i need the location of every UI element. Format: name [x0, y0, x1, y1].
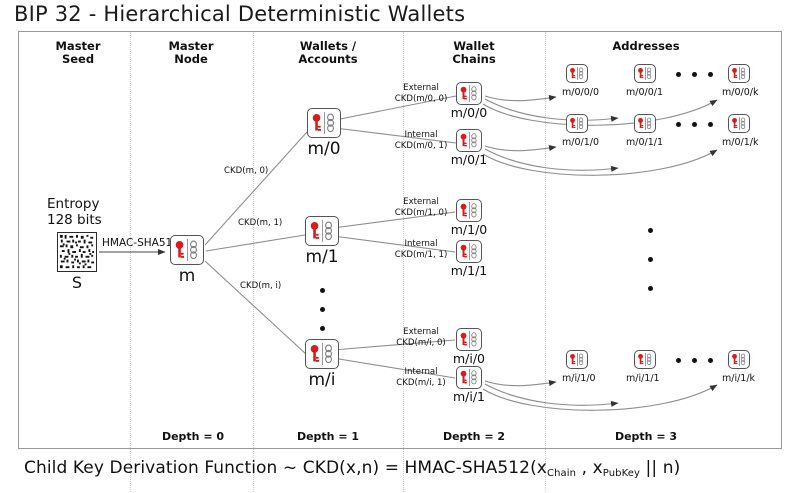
node-label: m/i/0: [453, 351, 485, 366]
depth-label-2: Depth = 2: [426, 430, 522, 443]
column-divider-2: [253, 32, 254, 492]
address-label-m-0-1-k: m/0/1/k: [722, 137, 758, 148]
chain-links-icon: [579, 118, 583, 129]
entropy-line2: 128 bits: [47, 212, 102, 228]
column-divider-4: [545, 32, 546, 492]
key-icon: [567, 351, 587, 368]
chain-links-icon: [326, 345, 332, 363]
edge-formula: CKD(m/0, 0): [378, 94, 464, 105]
key-icon: [308, 109, 340, 137]
edge-label-external-m-0-0: External CKD(m/0, 0): [378, 83, 464, 104]
chain-links-icon: [647, 354, 651, 365]
key-icon: [635, 351, 655, 368]
entropy-noise-icon: [57, 232, 97, 272]
node-address-m-i-1-k[interactable]: [728, 350, 750, 369]
chain-links-icon: [472, 204, 476, 217]
column-header-wallet-chains: Wallet Chains: [426, 40, 522, 66]
chain-links-icon: [647, 118, 651, 129]
key-icon: [729, 65, 749, 82]
addresses-row1-ellipsis: [676, 72, 713, 77]
address-label-m-i-1-k: m/i/1/k: [722, 373, 755, 384]
key-icon: [171, 236, 203, 264]
accounts-ellipsis: [320, 288, 325, 345]
edge-label-internal-m-i-1: Internal CKD(m/i, 1): [378, 367, 464, 388]
column-header-line2: Node: [143, 53, 239, 66]
node-address-m-0-1-1[interactable]: [634, 114, 656, 133]
node-master-m[interactable]: m: [170, 235, 204, 265]
column-header-master-seed: Master Seed: [30, 40, 126, 66]
column-header-line2: Seed: [30, 53, 126, 66]
address-label-m-0-1-1: m/0/1/1: [626, 137, 663, 148]
node-address-m-0-0-k[interactable]: [728, 64, 750, 83]
column-header-line1: Addresses: [586, 40, 706, 53]
addresses-row3-ellipsis: [676, 358, 713, 363]
depth-label-1: Depth = 1: [280, 430, 376, 443]
address-label-m-0-0-0: m/0/0/0: [562, 87, 599, 98]
chain-links-icon: [472, 371, 476, 384]
chain-links-icon: [647, 68, 651, 79]
key-icon: [729, 115, 749, 132]
node-address-m-0-0-0[interactable]: [566, 64, 588, 83]
edge-formula: CKD(m/1, 0): [378, 208, 464, 219]
edge-formula: CKD(m/i, 0): [378, 338, 464, 349]
entropy-label: Entropy 128 bits: [47, 196, 102, 228]
addresses-column-ellipsis: [648, 228, 653, 305]
node-address-m-0-1-0[interactable]: [566, 114, 588, 133]
node-label: m/1: [305, 247, 338, 267]
chain-links-icon: [741, 68, 745, 79]
key-chain-box: [634, 64, 656, 83]
key-chain-box: [566, 114, 588, 133]
key-icon: [306, 217, 338, 245]
seed-label: S: [57, 273, 97, 292]
diagram-canvas: BIP 32 - Hierarchical Deterministic Wall…: [0, 0, 800, 493]
edge-label-internal-m-0-1: Internal CKD(m/0, 1): [378, 130, 464, 151]
edge-label-ckd-m-1: CKD(m, 1): [238, 218, 282, 228]
address-label-m-i-1-1: m/i/1/1: [626, 373, 660, 384]
key-icon: [729, 351, 749, 368]
chain-links-icon: [472, 245, 476, 258]
chain-links-icon: [741, 354, 745, 365]
key-icon: [567, 115, 587, 132]
formula-prefix: Child Key Derivation Function ~ CKD(x,n)…: [24, 458, 547, 478]
depth-label-0: Depth = 0: [145, 430, 241, 443]
column-header-line2: Chains: [426, 53, 522, 66]
key-chain-box: [305, 216, 339, 246]
formula-sub-pubkey: PubKey: [603, 468, 640, 479]
key-chain-box: [634, 114, 656, 133]
chain-links-icon: [741, 118, 745, 129]
column-header-addresses: Addresses: [586, 40, 706, 53]
key-icon: [635, 115, 655, 132]
node-label: m/0/0: [451, 105, 488, 120]
formula-suffix: || n): [640, 458, 680, 478]
column-header-line2: Accounts: [280, 53, 376, 66]
edge-kind: Internal: [378, 367, 464, 378]
addresses-row2-ellipsis: [676, 122, 713, 127]
entropy-line1: Entropy: [47, 196, 102, 212]
node-address-m-0-0-1[interactable]: [634, 64, 656, 83]
edge-formula: CKD(m/0, 1): [378, 141, 464, 152]
edge-kind: External: [378, 83, 464, 94]
chain-links-icon: [579, 68, 583, 79]
edge-label-external-m-1-0: External CKD(m/1, 0): [378, 197, 464, 218]
edge-kind: Internal: [378, 130, 464, 141]
node-label: m/0/1: [451, 152, 488, 167]
key-chain-box: [566, 64, 588, 83]
key-chain-box: [728, 350, 750, 369]
node-account-m-1[interactable]: m/1: [305, 216, 339, 246]
seed-node[interactable]: S: [57, 232, 97, 272]
edge-label-internal-m-1-1: Internal CKD(m/1, 1): [378, 239, 464, 260]
edge-label-ckd-m-i: CKD(m, i): [240, 281, 281, 291]
page-title: BIP 32 - Hierarchical Deterministic Wall…: [14, 2, 465, 26]
chain-links-icon: [472, 333, 476, 346]
chain-links-icon: [472, 87, 476, 100]
key-chain-box: [728, 64, 750, 83]
chain-links-icon: [191, 241, 197, 259]
edge-kind: External: [378, 197, 464, 208]
edge-formula: CKD(m/i, 1): [378, 378, 464, 389]
address-label-m-i-1-0: m/i/1/0: [562, 373, 596, 384]
address-label-m-0-0-k: m/0/0/k: [722, 87, 758, 98]
edge-kind: Internal: [378, 239, 464, 250]
column-header-wallets-accounts: Wallets / Accounts: [280, 40, 376, 66]
key-chain-box: [728, 114, 750, 133]
key-icon: [635, 65, 655, 82]
edge-label-ckd-m-0: CKD(m, 0): [224, 166, 268, 176]
key-chain-box: [566, 350, 588, 369]
node-label: m/1/0: [451, 222, 488, 237]
node-label: m/0: [307, 139, 340, 159]
hmac-sha512-label: HMAC-SHA512: [102, 237, 179, 249]
edge-formula: CKD(m/1, 1): [378, 250, 464, 261]
node-address-m-i-1-1[interactable]: [634, 350, 656, 369]
key-icon: [567, 65, 587, 82]
address-label-m-0-1-0: m/0/1/0: [562, 137, 599, 148]
formula-sub-chain: Chain: [547, 468, 576, 479]
node-label: m/1/1: [451, 263, 488, 278]
depth-label-3: Depth = 3: [586, 430, 706, 443]
node-account-m-0[interactable]: m/0: [307, 108, 341, 138]
chain-links-icon: [326, 222, 332, 240]
key-chain-box: [307, 108, 341, 138]
chain-links-icon: [579, 354, 583, 365]
node-label: m/i/1: [453, 389, 485, 404]
node-address-m-i-1-0[interactable]: [566, 350, 588, 369]
chain-links-icon: [472, 134, 476, 147]
column-divider-1: [130, 32, 131, 492]
formula-ckd: Child Key Derivation Function ~ CKD(x,n)…: [24, 458, 680, 478]
node-label: m/i: [308, 370, 335, 390]
column-header-master-node: Master Node: [143, 40, 239, 66]
edge-label-external-m-i-0: External CKD(m/i, 0): [378, 327, 464, 348]
key-chain-box: [634, 350, 656, 369]
address-label-m-0-0-1: m/0/0/1: [626, 87, 663, 98]
formula-mid: , x: [576, 458, 603, 478]
chain-links-icon: [328, 114, 334, 132]
key-chain-box: [170, 235, 204, 265]
node-address-m-0-1-k[interactable]: [728, 114, 750, 133]
edge-kind: External: [378, 327, 464, 338]
node-label: m: [179, 266, 196, 286]
